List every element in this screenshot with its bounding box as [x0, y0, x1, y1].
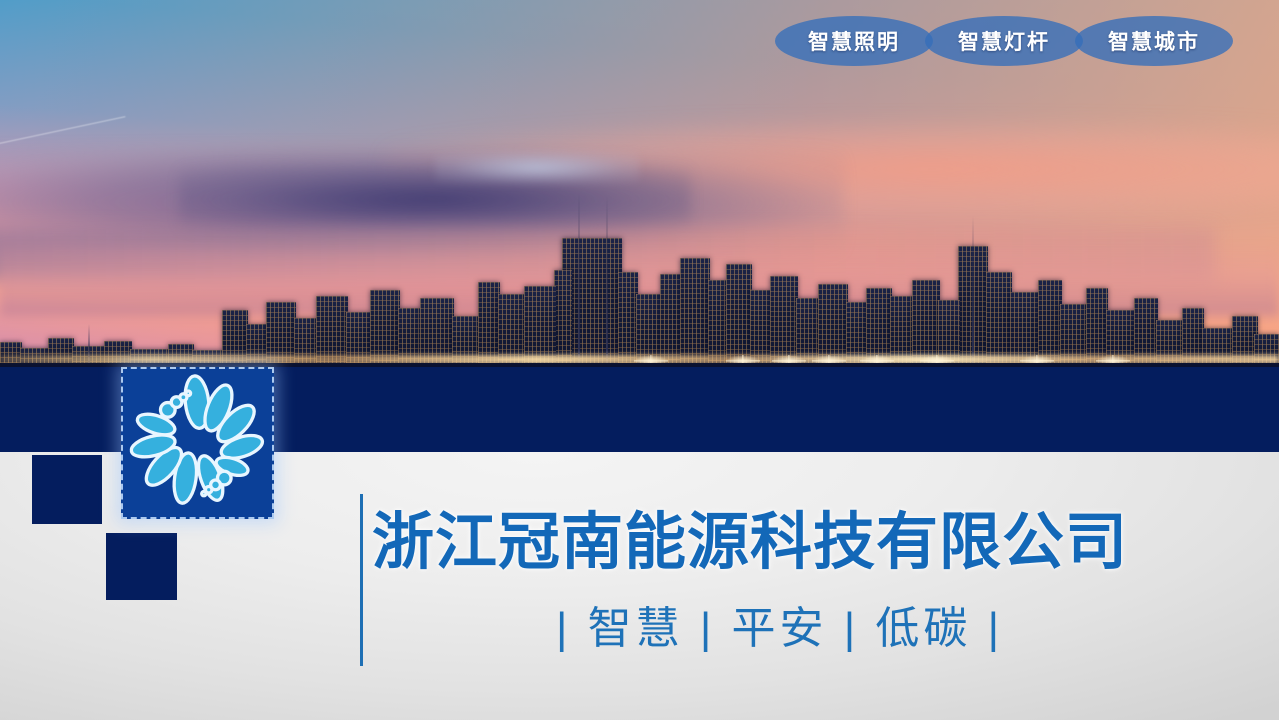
badge-smart-lighting[interactable]: 智慧照明 [775, 16, 933, 66]
decor-square-upper [32, 455, 102, 524]
title-accent-rule [360, 494, 363, 666]
page-title: 浙江冠南能源科技有限公司 [372, 491, 1128, 581]
decor-square-lower [106, 533, 177, 600]
badge-smart-city[interactable]: 智慧城市 [1075, 16, 1233, 66]
skyline-silhouette [0, 140, 1279, 368]
brand-slogan: | 智慧 | 平安 | 低碳 | [556, 592, 1003, 656]
slide-canvas: 浙江冠南能源科技有限公司 | 智慧 | 平安 | 低碳 | 智慧照明 智慧灯杆 … [0, 0, 1279, 720]
company-logo[interactable] [121, 367, 274, 519]
badge-smart-pole[interactable]: 智慧灯杆 [925, 16, 1083, 66]
logo-flower-icon [123, 369, 272, 517]
navy-band-mid [330, 367, 950, 455]
tagline-badge-group: 智慧照明 智慧灯杆 智慧城市 [775, 16, 1237, 66]
